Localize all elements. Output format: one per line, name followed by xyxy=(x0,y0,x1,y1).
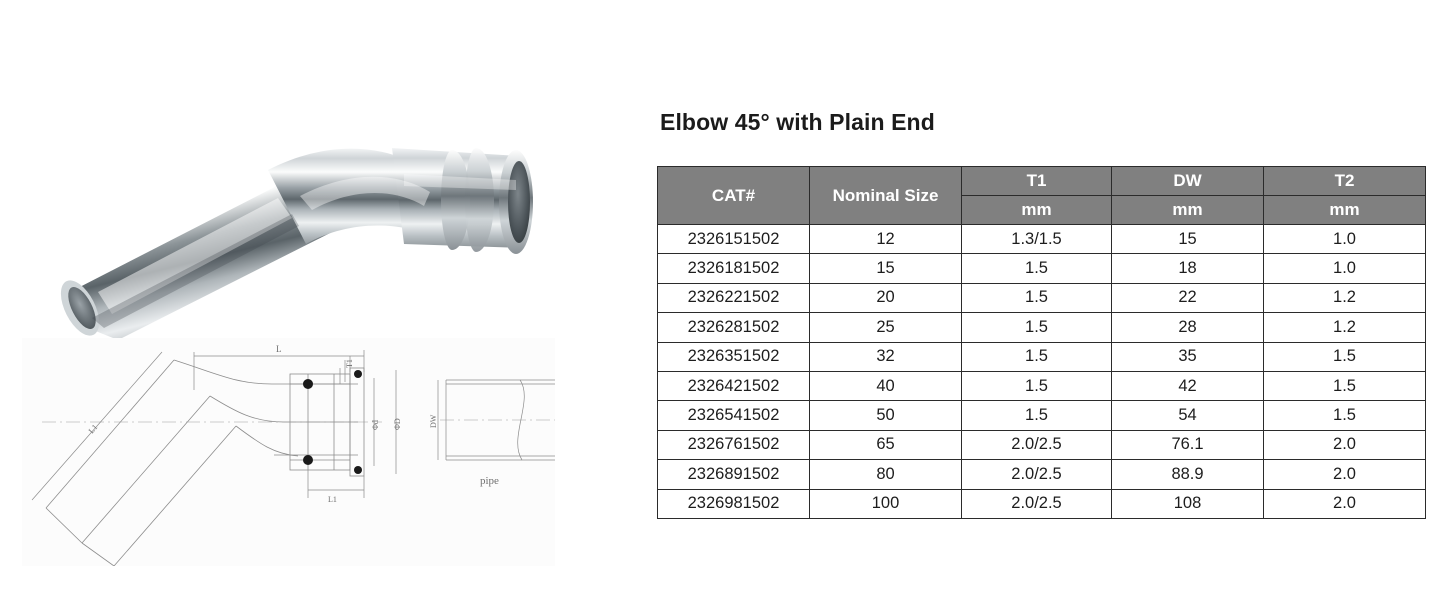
cell-t1: 1.5 xyxy=(962,401,1112,430)
column-header-dw: DW xyxy=(1112,167,1264,196)
cell-t2: 1.5 xyxy=(1264,342,1426,371)
column-unit-dw: mm xyxy=(1112,196,1264,225)
cell-t2: 1.5 xyxy=(1264,401,1426,430)
table-row: 23269815021002.0/2.51082.0 xyxy=(658,489,1426,518)
specification-table: CAT# Nominal Size T1 DW T2 mm mm mm 2326… xyxy=(657,166,1426,519)
cell-cat: 2326151502 xyxy=(658,225,810,254)
dim-label-T1: T1 xyxy=(345,359,354,368)
cell-dw: 15 xyxy=(1112,225,1264,254)
cell-dw: 35 xyxy=(1112,342,1264,371)
cell-nom: 25 xyxy=(810,313,962,342)
table-row: 2326421502401.5421.5 xyxy=(658,371,1426,400)
cell-t2: 1.0 xyxy=(1264,225,1426,254)
cell-cat: 2326351502 xyxy=(658,342,810,371)
cell-nom: 50 xyxy=(810,401,962,430)
cell-t1: 1.3/1.5 xyxy=(962,225,1112,254)
cell-nom: 40 xyxy=(810,371,962,400)
column-unit-t2: mm xyxy=(1264,196,1426,225)
cell-cat: 2326891502 xyxy=(658,460,810,489)
cell-t1: 2.0/2.5 xyxy=(962,489,1112,518)
column-header-t2: T2 xyxy=(1264,167,1426,196)
cell-dw: 18 xyxy=(1112,254,1264,283)
pipe-caption: pipe xyxy=(480,475,499,487)
table-row: 2326221502201.5221.2 xyxy=(658,283,1426,312)
cell-cat: 2326761502 xyxy=(658,430,810,459)
page-title: Elbow 45° with Plain End xyxy=(660,109,935,136)
cell-t1: 1.5 xyxy=(962,254,1112,283)
cell-dw: 88.9 xyxy=(1112,460,1264,489)
cell-nom: 32 xyxy=(810,342,962,371)
cell-t1: 1.5 xyxy=(962,371,1112,400)
cell-cat: 2326281502 xyxy=(658,313,810,342)
cell-t2: 2.0 xyxy=(1264,460,1426,489)
table-row: 2326351502321.5351.5 xyxy=(658,342,1426,371)
cell-dw: 42 xyxy=(1112,371,1264,400)
dim-label-L: L xyxy=(276,344,282,354)
dim-label-outer-dia: ΦD xyxy=(393,418,402,430)
cell-cat: 2326221502 xyxy=(658,283,810,312)
table-body: 2326151502121.3/1.5151.02326181502151.51… xyxy=(658,225,1426,519)
cell-nom: 65 xyxy=(810,430,962,459)
cell-t1: 1.5 xyxy=(962,283,1112,312)
column-header-t1: T1 xyxy=(962,167,1112,196)
cell-nom: 15 xyxy=(810,254,962,283)
cell-t1: 2.0/2.5 xyxy=(962,430,1112,459)
cell-t1: 2.0/2.5 xyxy=(962,460,1112,489)
table-row: 2326281502251.5281.2 xyxy=(658,313,1426,342)
cell-cat: 2326181502 xyxy=(658,254,810,283)
dim-label-DW: DW xyxy=(429,414,438,428)
dim-label-inner-dia: Φd xyxy=(371,420,380,430)
page-root: L L1 L1 T1 Φd ΦD DW T2 pipe Elbow 45° wi… xyxy=(0,0,1446,594)
column-header-cat: CAT# xyxy=(658,167,810,225)
cell-dw: 22 xyxy=(1112,283,1264,312)
right-pane: Elbow 45° with Plain End CAT# Nominal Si… xyxy=(656,0,1446,594)
cell-dw: 108 xyxy=(1112,489,1264,518)
cell-t2: 2.0 xyxy=(1264,430,1426,459)
table-row: 2326181502151.5181.0 xyxy=(658,254,1426,283)
left-pane: L L1 L1 T1 Φd ΦD DW T2 pipe xyxy=(0,0,600,594)
cell-nom: 80 xyxy=(810,460,962,489)
table-row: 2326761502652.0/2.576.12.0 xyxy=(658,430,1426,459)
column-header-nominal-size: Nominal Size xyxy=(810,167,962,225)
cell-nom: 20 xyxy=(810,283,962,312)
cell-cat: 2326421502 xyxy=(658,371,810,400)
cell-t2: 1.2 xyxy=(1264,283,1426,312)
cell-nom: 100 xyxy=(810,489,962,518)
dim-label-leg: L1 xyxy=(87,423,100,436)
cell-nom: 12 xyxy=(810,225,962,254)
cell-t2: 1.2 xyxy=(1264,313,1426,342)
dim-label-L1: L1 xyxy=(328,495,337,504)
table-row: 2326151502121.3/1.5151.0 xyxy=(658,225,1426,254)
cell-t2: 1.5 xyxy=(1264,371,1426,400)
cell-cat: 2326541502 xyxy=(658,401,810,430)
cell-t1: 1.5 xyxy=(962,342,1112,371)
cell-dw: 54 xyxy=(1112,401,1264,430)
product-photo xyxy=(0,78,560,340)
technical-drawing: L L1 L1 T1 Φd ΦD DW T2 pipe xyxy=(22,338,555,566)
cell-t2: 2.0 xyxy=(1264,489,1426,518)
cell-t1: 1.5 xyxy=(962,313,1112,342)
column-unit-t1: mm xyxy=(962,196,1112,225)
table-row: 2326541502501.5541.5 xyxy=(658,401,1426,430)
cell-cat: 2326981502 xyxy=(658,489,810,518)
cell-t2: 1.0 xyxy=(1264,254,1426,283)
table-row: 2326891502802.0/2.588.92.0 xyxy=(658,460,1426,489)
cell-dw: 76.1 xyxy=(1112,430,1264,459)
table-header: CAT# Nominal Size T1 DW T2 mm mm mm xyxy=(658,167,1426,225)
cell-dw: 28 xyxy=(1112,313,1264,342)
